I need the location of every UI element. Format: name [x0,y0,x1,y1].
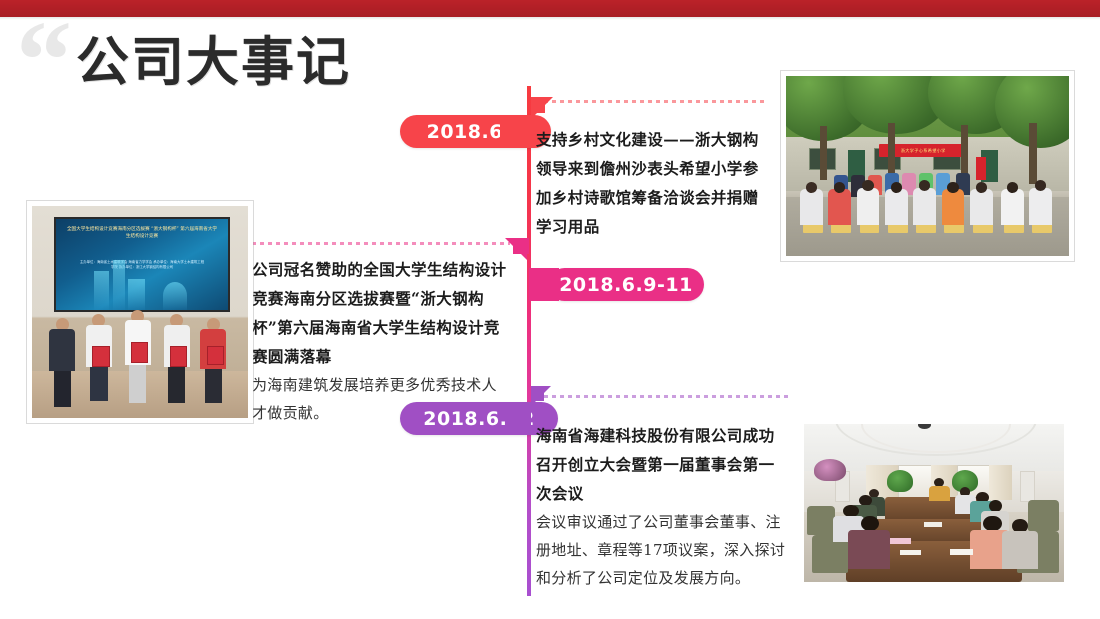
date-connector-2 [529,268,559,301]
pointer-flag-2-bar [513,238,529,254]
entry-3-text: 海南省海建科技股份有限公司成功召开创立大会暨第一届董事会第一次会议 会议审议通过… [536,395,788,592]
banner-shadow [0,17,1100,20]
entry-1-headline: 支持乡村文化建设——浙大钢构领导来到儋州沙表头希望小学参加乡村诗歌馆筹备洽谈会并… [536,125,766,241]
entry-3-divider [536,395,788,398]
date-connector-1 [500,115,530,148]
entry-3-headline: 海南省海建科技股份有限公司成功召开创立大会暨第一届董事会第一次会议 [536,421,788,508]
date-badge-3[interactable]: 2018.6.12 [400,402,558,435]
slide-root: “ 公司大事记 2018.6.3 支持乡村文化建设——浙大钢构领导来到儋州沙表头… [0,0,1100,619]
entry-2-text: 公司冠名赞助的全国大学生结构设计竞赛海南分区选拔赛暨“浙大钢构杯”第六届海南省大… [252,242,510,427]
entry-2-divider [252,242,510,245]
date-connector-3 [505,402,531,435]
page-title: 公司大事记 [76,28,351,98]
timeline-spine [527,86,531,596]
photo2-screen-sub: 主办单位：海南省土木建筑学会 海南省力学学会 承办单位：海南大学土木建筑工程学院… [80,260,204,271]
award-ceremony-photo[interactable]: 全国大学生结构设计竞赛海南分区选拔赛 “浙大钢构杯” 第六届海南省大学生结构设计… [27,201,253,423]
top-banner [0,0,1100,17]
date-badge-2[interactable]: 2018.6.9-11 [548,268,704,301]
entry-3-body: 会议审议通过了公司董事会董事、注册地址、章程等17项议案，深入探讨和分析了公司定… [536,508,788,592]
title-block: “ 公司大事记 [16,22,351,98]
school-gathering-photo[interactable]: 浙大学子心系希望小学 [781,71,1074,261]
entry-2-headline: 公司冠名赞助的全国大学生结构设计竞赛海南分区选拔赛暨“浙大钢构杯”第六届海南省大… [252,255,510,371]
photo2-screen-title: 全国大学生结构设计竞赛海南分区选拔赛 “浙大钢构杯” 第六届海南省大学生结构设计… [66,226,218,240]
entry-1-divider [536,100,766,103]
board-meeting-photo[interactable] [804,424,1064,582]
entry-1-text: 支持乡村文化建设——浙大钢构领导来到儋州沙表头希望小学参加乡村诗歌馆筹备洽谈会并… [536,100,766,241]
quote-icon: “ [16,24,70,98]
